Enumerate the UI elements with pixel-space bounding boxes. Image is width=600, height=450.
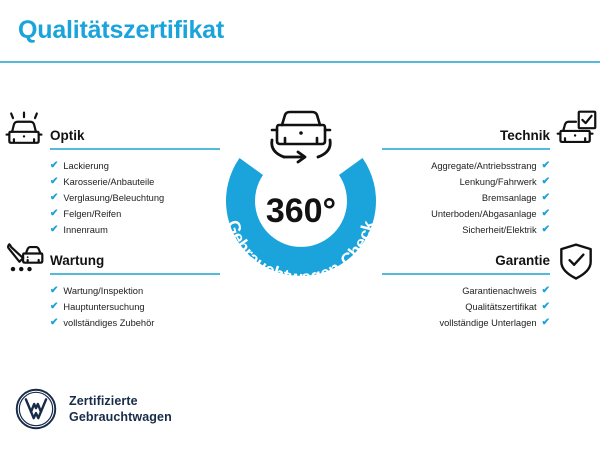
list-item-label: Qualitätszertifikat [465,299,536,315]
section-divider-garantie [382,273,550,275]
page-title: Qualitätszertifikat [18,16,224,45]
list-item-label: Karosserie/Anbauteile [63,174,154,190]
list-item: Lenkung/Fahrwerk✔ [382,174,550,190]
list-item: Garantienachweis✔ [382,283,550,299]
qualitaetszertifikat-infographic: Qualitätszertifikat Optik ✔Lackierung ✔K… [0,0,600,450]
list-item: ✔Verglasung/Beleuchtung [50,190,220,206]
car-checkbox-icon [554,108,598,152]
list-item: vollständige Unterlagen✔ [382,315,550,331]
list-item: ✔Karosserie/Anbauteile [50,174,220,190]
list-item: ✔Hauptuntersuchung [50,299,220,315]
section-heading-wartung: Wartung [50,253,220,269]
shield-check-icon [554,240,598,284]
list-item-label: Lenkung/Fahrwerk [460,174,537,190]
list-item: Unterboden/Abgasanlage✔ [382,206,550,222]
list-item: Sicherheit/Elektrik✔ [382,222,550,238]
list-item-label: vollständige Unterlagen [439,315,536,331]
check-icon: ✔ [50,286,58,296]
section-optik: Optik ✔Lackierung ✔Karosserie/Anbauteile… [50,128,220,238]
list-item-label: Wartung/Inspektion [63,283,143,299]
list-item: ✔vollständiges Zubehör [50,315,220,331]
list-item-label: Garantienachweis [462,283,536,299]
section-list-garantie: Garantienachweis✔ Qualitätszertifikat✔ v… [382,283,550,331]
section-list-optik: ✔Lackierung ✔Karosserie/Anbauteile ✔Verg… [50,158,220,238]
list-item-label: Innenraum [63,222,107,238]
title-divider [0,61,600,63]
section-heading-technik: Technik [382,128,550,144]
check-icon: ✔ [542,193,550,203]
badge-center-label: 360° [266,192,336,230]
section-divider-optik [50,148,220,150]
vw-footer-line1: Zertifizierte [69,393,172,409]
list-item: Bremsanlage✔ [382,190,550,206]
list-item-label: Verglasung/Beleuchtung [63,190,164,206]
vw-logo-icon [14,387,58,431]
check-icon: ✔ [542,225,550,235]
section-divider-technik [382,148,550,150]
list-item-label: Hauptuntersuchung [63,299,144,315]
list-item-label: Felgen/Reifen [63,206,121,222]
check-icon: ✔ [542,286,550,296]
check-icon: ✔ [50,161,58,171]
list-item: Qualitätszertifikat✔ [382,299,550,315]
check-icon: ✔ [50,225,58,235]
section-heading-garantie: Garantie [382,253,550,269]
list-item-label: Bremsanlage [482,190,537,206]
check-icon: ✔ [542,302,550,312]
section-technik: Technik Aggregate/Antriebsstrang✔ Lenkun… [382,128,550,238]
list-item-label: Unterboden/Abgasanlage [431,206,536,222]
vw-footer-line2: Gebrauchtwagen [69,409,172,425]
section-garantie: Garantie Garantienachweis✔ Qualitätszert… [382,253,550,331]
vw-footer-text: Zertifizierte Gebrauchtwagen [69,393,172,425]
car-shine-icon [2,108,46,152]
list-item-label: vollständiges Zubehör [63,315,154,331]
list-item: ✔Wartung/Inspektion [50,283,220,299]
section-list-technik: Aggregate/Antriebsstrang✔ Lenkung/Fahrwe… [382,158,550,238]
check-icon: ✔ [50,302,58,312]
check-icon: ✔ [542,318,550,328]
check-icon: ✔ [542,177,550,187]
section-wartung: Wartung ✔Wartung/Inspektion ✔Hauptunters… [50,253,220,331]
wrench-car-icon [2,237,46,281]
check-icon: ✔ [542,209,550,219]
list-item: ✔Lackierung [50,158,220,174]
check-icon: ✔ [542,161,550,171]
360-gebrauchtwagen-check-badge: Gebrauchtwagen-Check 360° [206,100,396,300]
check-icon: ✔ [50,318,58,328]
list-item: Aggregate/Antriebsstrang✔ [382,158,550,174]
section-heading-optik: Optik [50,128,220,144]
vw-certified-footer: Zertifizierte Gebrauchtwagen [14,387,172,431]
list-item-label: Aggregate/Antriebsstrang [431,158,536,174]
check-icon: ✔ [50,209,58,219]
check-icon: ✔ [50,193,58,203]
check-icon: ✔ [50,177,58,187]
list-item: ✔Felgen/Reifen [50,206,220,222]
section-list-wartung: ✔Wartung/Inspektion ✔Hauptuntersuchung ✔… [50,283,220,331]
list-item-label: Sicherheit/Elektrik [462,222,536,238]
list-item: ✔Innenraum [50,222,220,238]
list-item-label: Lackierung [63,158,108,174]
car-rotate-icon [272,112,331,162]
section-divider-wartung [50,273,220,275]
